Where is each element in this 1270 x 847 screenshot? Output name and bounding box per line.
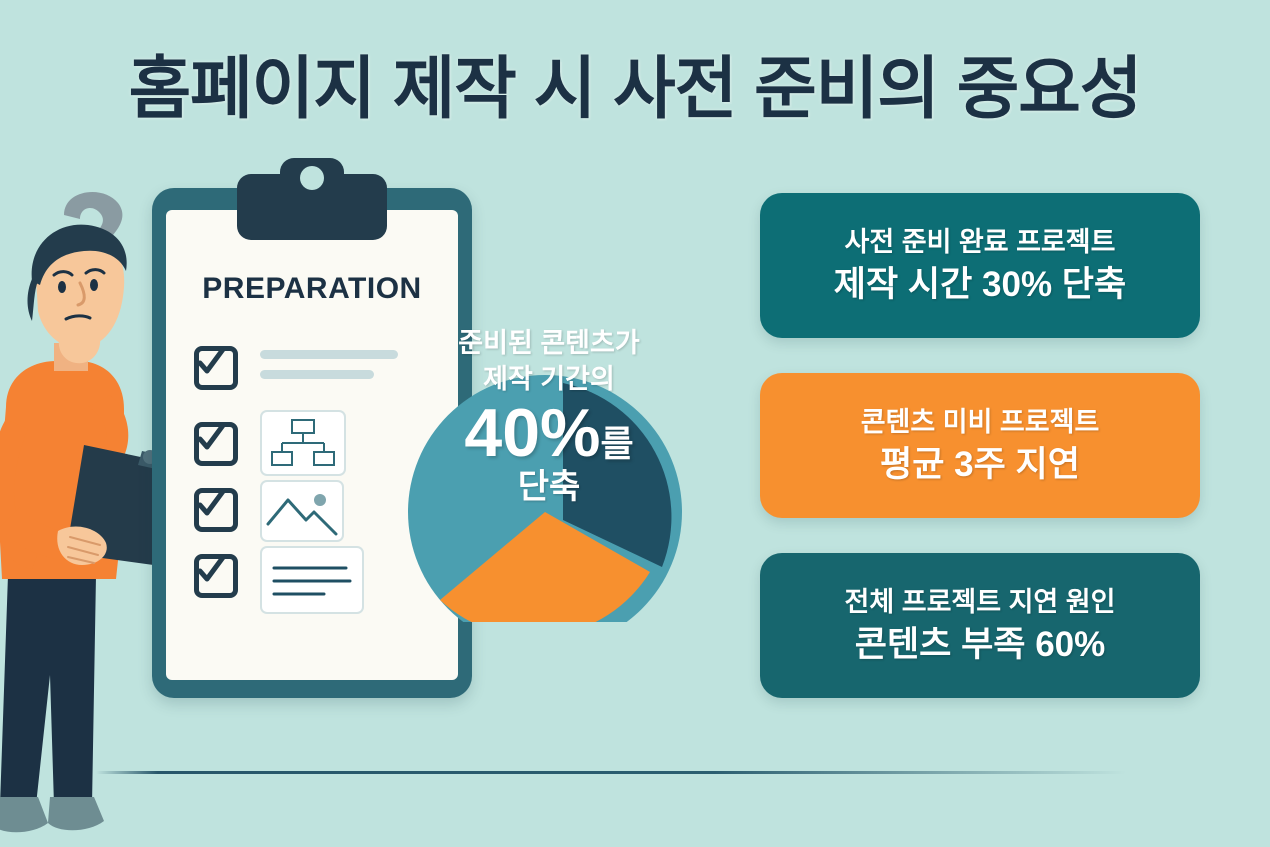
ground-line: [96, 771, 1126, 774]
card-3-top-label: 전체 프로젝트 지연 원인: [845, 586, 1116, 618]
text-lines-icon: [262, 548, 362, 612]
checkbox-checked-icon[interactable]: [194, 346, 238, 390]
card-delay-cause[interactable]: 전체 프로젝트 지연 원인 콘텐츠 부족 60%: [760, 553, 1200, 698]
sitemap-icon: [262, 412, 344, 474]
text-line: [260, 350, 398, 359]
checkbox-checked-icon[interactable]: [194, 488, 238, 532]
text-line: [260, 370, 374, 379]
page-title: 홈페이지 제작 시 사전 준비의 중요성: [0, 52, 1270, 127]
sitemap-diagram-icon: [260, 410, 346, 476]
card-content-missing[interactable]: 콘텐츠 미비 프로젝트 평균 3주 지연: [760, 373, 1200, 518]
infographic-canvas: 홈페이지 제작 시 사전 준비의 중요성: [0, 0, 1270, 847]
image-placeholder-icon: [260, 480, 344, 542]
checkbox-checked-icon[interactable]: [194, 422, 238, 466]
card-2-top-label: 콘텐츠 미비 프로젝트: [861, 406, 1100, 438]
checkbox-checked-icon[interactable]: [194, 554, 238, 598]
check-mark-icon: [194, 554, 228, 588]
check-mark-icon: [194, 422, 228, 456]
clipboard-clip-hole: [300, 166, 324, 190]
check-mark-icon: [194, 488, 228, 522]
text-block-icon: [260, 546, 364, 614]
image-icon: [262, 482, 342, 540]
card-1-bottom-label: 제작 시간 30% 단축: [834, 265, 1126, 305]
card-2-bottom-label: 평균 3주 지연: [880, 445, 1080, 485]
card-3-bottom-label: 콘텐츠 부족 60%: [855, 625, 1106, 665]
stat-cards-list: 사전 준비 완료 프로젝트 제작 시간 30% 단축 콘텐츠 미비 프로젝트 평…: [760, 193, 1200, 733]
card-1-top-label: 사전 준비 완료 프로젝트: [845, 226, 1116, 258]
card-preparation-complete[interactable]: 사전 준비 완료 프로젝트 제작 시간 30% 단축: [760, 193, 1200, 338]
pie-chart-svg: [380, 222, 710, 622]
pie-chart: [380, 222, 710, 622]
check-mark-icon: [194, 346, 228, 380]
